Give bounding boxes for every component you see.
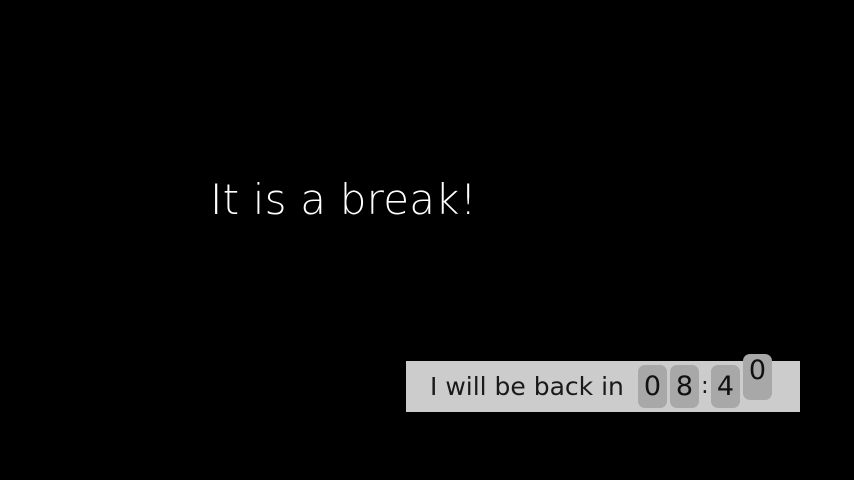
countdown-separator: : bbox=[699, 365, 711, 408]
countdown-clock: 0 8 : 4 0 bbox=[638, 361, 775, 412]
countdown-digit-minutes-tens: 4 bbox=[711, 365, 740, 408]
countdown-digit-minutes-ones: 0 bbox=[743, 354, 772, 400]
break-message: It is a break! bbox=[210, 173, 477, 227]
countdown-digit-hours-ones: 8 bbox=[670, 365, 699, 408]
countdown-label: I will be back in bbox=[430, 361, 624, 412]
break-screen: It is a break! I will be back in 0 8 : 4… bbox=[0, 0, 854, 480]
countdown-bar: I will be back in 0 8 : 4 0 bbox=[406, 361, 800, 412]
countdown-digit-hours-tens: 0 bbox=[638, 365, 667, 408]
